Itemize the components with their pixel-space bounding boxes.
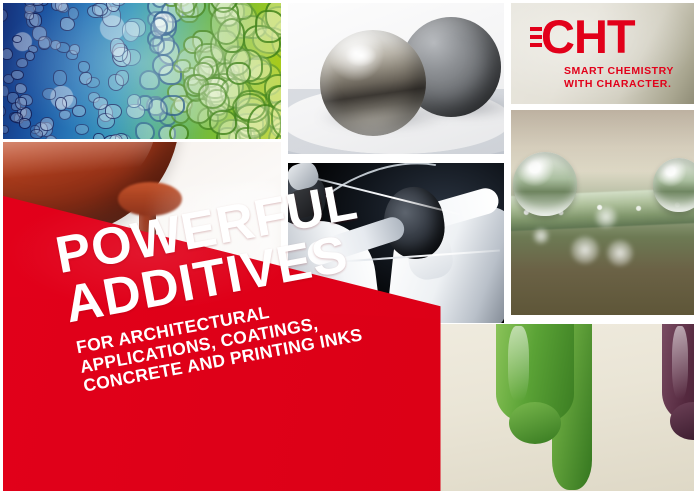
cht-wordmark-row: CHT xyxy=(530,13,674,60)
chrome-specular-highlight xyxy=(345,44,377,67)
droplet-panel-haze xyxy=(511,110,697,315)
cht-tagline-line-2: WITH CHARACTER. xyxy=(564,78,674,91)
panel-steel-spheres xyxy=(288,0,504,154)
cht-tagline: SMART CHEMISTRY WITH CHARACTER. xyxy=(564,65,674,90)
cht-logo: CHT SMART CHEMISTRY WITH CHARACTER. xyxy=(530,13,674,90)
panel-bubble-foam xyxy=(0,0,281,139)
green-drip xyxy=(496,324,574,424)
cht-wordmark: CHT xyxy=(541,15,635,59)
panel-water-droplets xyxy=(511,110,697,315)
chrome-sphere xyxy=(320,30,426,136)
purple-drip xyxy=(662,324,697,422)
foam-gloss xyxy=(0,0,281,139)
poster-canvas: CHT SMART CHEMISTRY WITH CHARACTER. xyxy=(0,0,697,494)
panel-cht-logo: CHT SMART CHEMISTRY WITH CHARACTER. xyxy=(511,0,697,104)
cht-tagline-line-1: SMART CHEMISTRY xyxy=(564,65,674,78)
